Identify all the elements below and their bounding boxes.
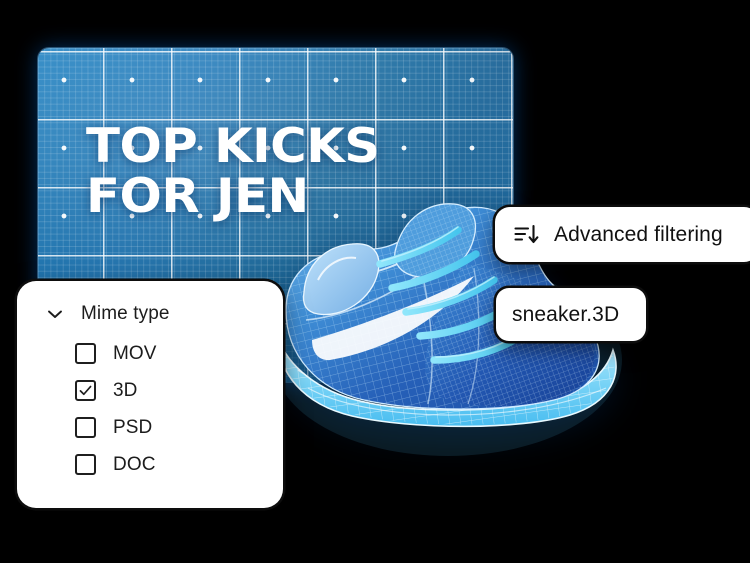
mime-option-psd-label: PSD [113,417,152,439]
mime-option-3d-label: 3D [113,380,138,402]
mime-option-3d[interactable]: 3D [17,372,283,409]
file-name-chip[interactable]: sneaker.3D [496,288,646,341]
checkbox-mov[interactable] [75,343,96,364]
check-icon [78,383,93,398]
mime-option-doc-label: DOC [113,454,156,476]
mime-option-doc[interactable]: DOC [17,446,283,483]
mime-type-header[interactable]: Mime type [17,281,283,325]
mime-type-option-list: MOV 3D PSD DOC [17,335,283,483]
mime-option-psd[interactable]: PSD [17,409,283,446]
mime-option-mov[interactable]: MOV [17,335,283,372]
file-name-label: sneaker.3D [512,303,619,327]
mime-type-label: Mime type [81,303,170,325]
mime-type-filter-card[interactable]: Mime type MOV 3D PSD DOC [17,281,283,508]
mime-option-mov-label: MOV [113,343,157,365]
checkbox-psd[interactable] [75,417,96,438]
chevron-down-icon[interactable] [45,304,65,324]
advanced-filtering-chip[interactable]: Advanced filtering [495,207,750,262]
sort-descending-icon [514,223,539,246]
checkbox-3d[interactable] [75,380,96,401]
checkbox-doc[interactable] [75,454,96,475]
canvas: TOP KICKS FOR JEN [0,0,750,563]
advanced-filtering-label: Advanced filtering [554,223,723,247]
